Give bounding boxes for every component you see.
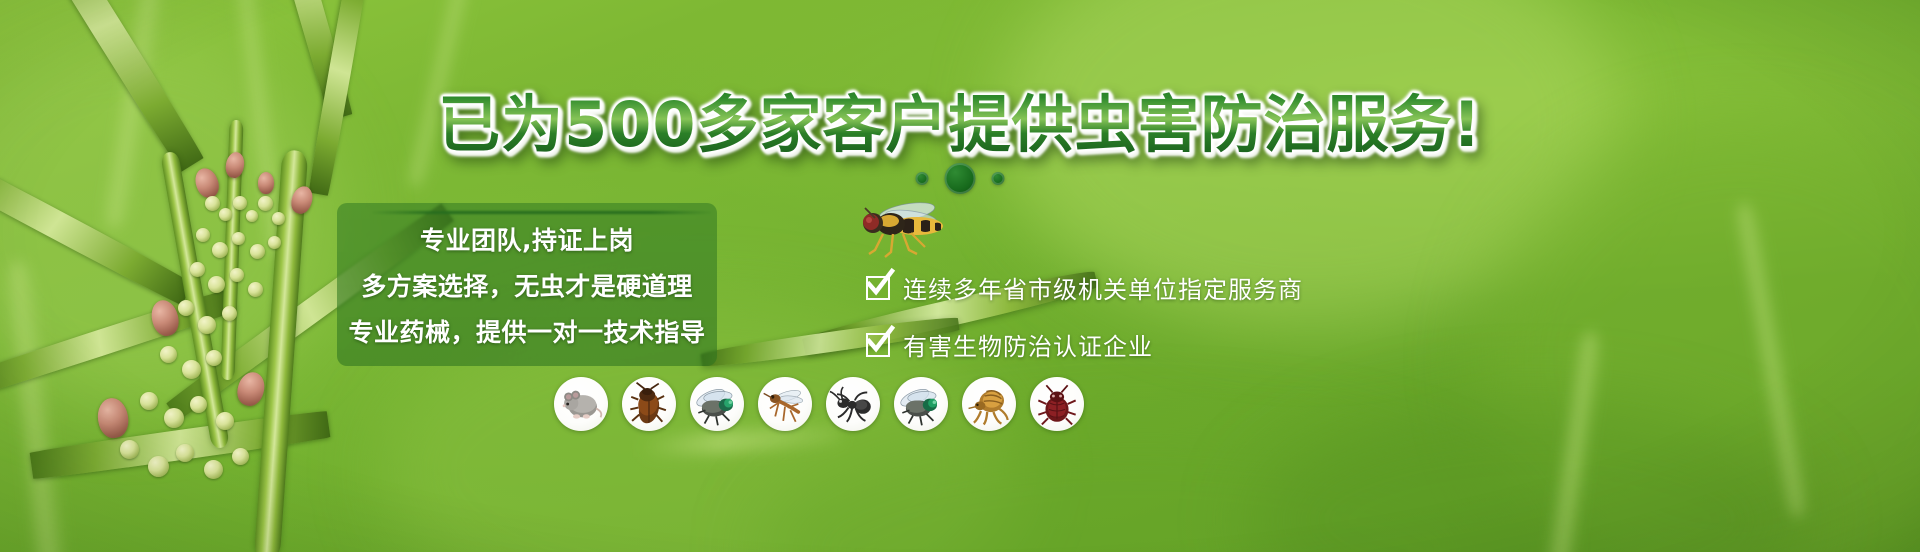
background-vignette [0,0,1920,552]
pest-control-banner: 已为500多家客户提供虫害防治服务! 已为500多家客户提供虫害防治服务! 专业… [0,0,1920,552]
